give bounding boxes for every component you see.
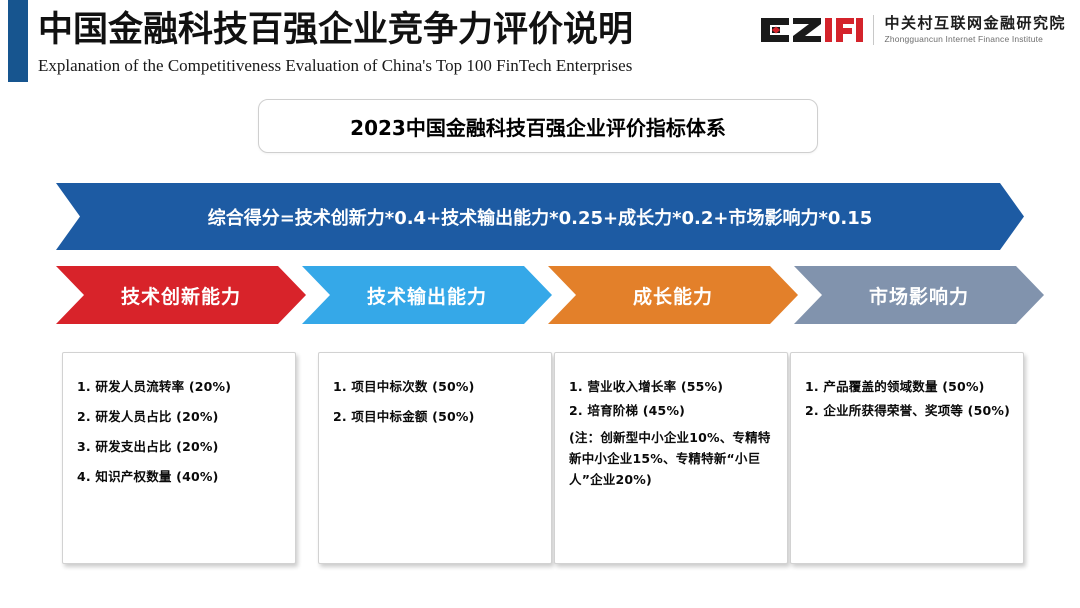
dimension-label: 技术创新能力 <box>121 282 241 309</box>
czifi-logo-mark <box>759 16 863 44</box>
indicator-item: 1. 产品覆盖的领域数量 (50%) <box>805 379 1011 395</box>
indicator-item: 2. 研发人员占比 (20%) <box>77 409 283 425</box>
indicator-item: 1. 项目中标次数 (50%) <box>333 379 539 395</box>
indicator-item: 2. 培育阶梯 (45%) <box>569 403 775 419</box>
indicator-item: 2. 项目中标金额 (50%) <box>333 409 539 425</box>
indicator-item: 1. 营业收入增长率 (55%) <box>569 379 775 395</box>
logo-divider <box>873 15 874 45</box>
dimension-chevron-growth: 成长能力 <box>548 266 798 324</box>
dimension-chevron-market-influence: 市场影响力 <box>794 266 1044 324</box>
score-formula-banner: 综合得分=技术创新力*0.4+技术输出能力*0.25+成长力*0.2+市场影响力… <box>56 183 1024 250</box>
czifi-wordmark-icon <box>759 16 863 44</box>
indicator-card-tech-output: 1. 项目中标次数 (50%) 2. 项目中标金额 (50%) <box>318 352 552 564</box>
dimension-label: 技术输出能力 <box>367 282 487 309</box>
index-system-title: 2023中国金融科技百强企业评价指标体系 <box>350 112 726 141</box>
indicator-card-tech-innovation: 1. 研发人员流转率 (20%) 2. 研发人员占比 (20%) 3. 研发支出… <box>62 352 296 564</box>
indicator-card-row: 1. 研发人员流转率 (20%) 2. 研发人员占比 (20%) 3. 研发支出… <box>0 352 1080 568</box>
page-header: 中国金融科技百强企业竞争力评价说明 Explanation of the Com… <box>0 0 1080 88</box>
institute-name-cn: 中关村互联网金融研究院 <box>884 15 1066 32</box>
dimension-chevron-tech-innovation: 技术创新能力 <box>56 266 306 324</box>
header-accent-bar <box>8 0 28 82</box>
dimension-label: 市场影响力 <box>869 282 969 309</box>
institute-logo: 中关村互联网金融研究院 Zhongguancun Internet Financ… <box>759 10 1066 50</box>
indicator-item: 1. 研发人员流转率 (20%) <box>77 379 283 395</box>
dimension-chevron-row: 技术创新能力 技术输出能力 成长能力 市场影响力 <box>0 266 1080 324</box>
index-system-title-box: 2023中国金融科技百强企业评价指标体系 <box>258 99 818 153</box>
score-formula-text: 综合得分=技术创新力*0.4+技术输出能力*0.25+成长力*0.2+市场影响力… <box>208 204 873 230</box>
logo-text-block: 中关村互联网金融研究院 Zhongguancun Internet Financ… <box>884 15 1066 45</box>
dimension-label: 成长能力 <box>633 282 713 309</box>
indicator-item: 3. 研发支出占比 (20%) <box>77 439 283 455</box>
institute-name-en: Zhongguancun Internet Finance Institute <box>884 34 1066 45</box>
dimension-chevron-tech-output: 技术输出能力 <box>302 266 552 324</box>
indicator-item: 4. 知识产权数量 (40%) <box>77 469 283 485</box>
indicator-card-growth: 1. 营业收入增长率 (55%) 2. 培育阶梯 (45%) (注：创新型中小企… <box>554 352 788 564</box>
indicator-item: 2. 企业所获得荣誉、奖项等 (50%) <box>805 403 1011 419</box>
indicator-card-market-influence: 1. 产品覆盖的领域数量 (50%) 2. 企业所获得荣誉、奖项等 (50%) <box>790 352 1024 564</box>
page-subtitle-english: Explanation of the Competitiveness Evalu… <box>38 55 632 77</box>
indicator-note: (注：创新型中小企业10%、专精特新中小企业15%、专精特新“小巨人”企业20%… <box>569 427 775 490</box>
page-title: 中国金融科技百强企业竞争力评价说明 <box>38 8 633 52</box>
